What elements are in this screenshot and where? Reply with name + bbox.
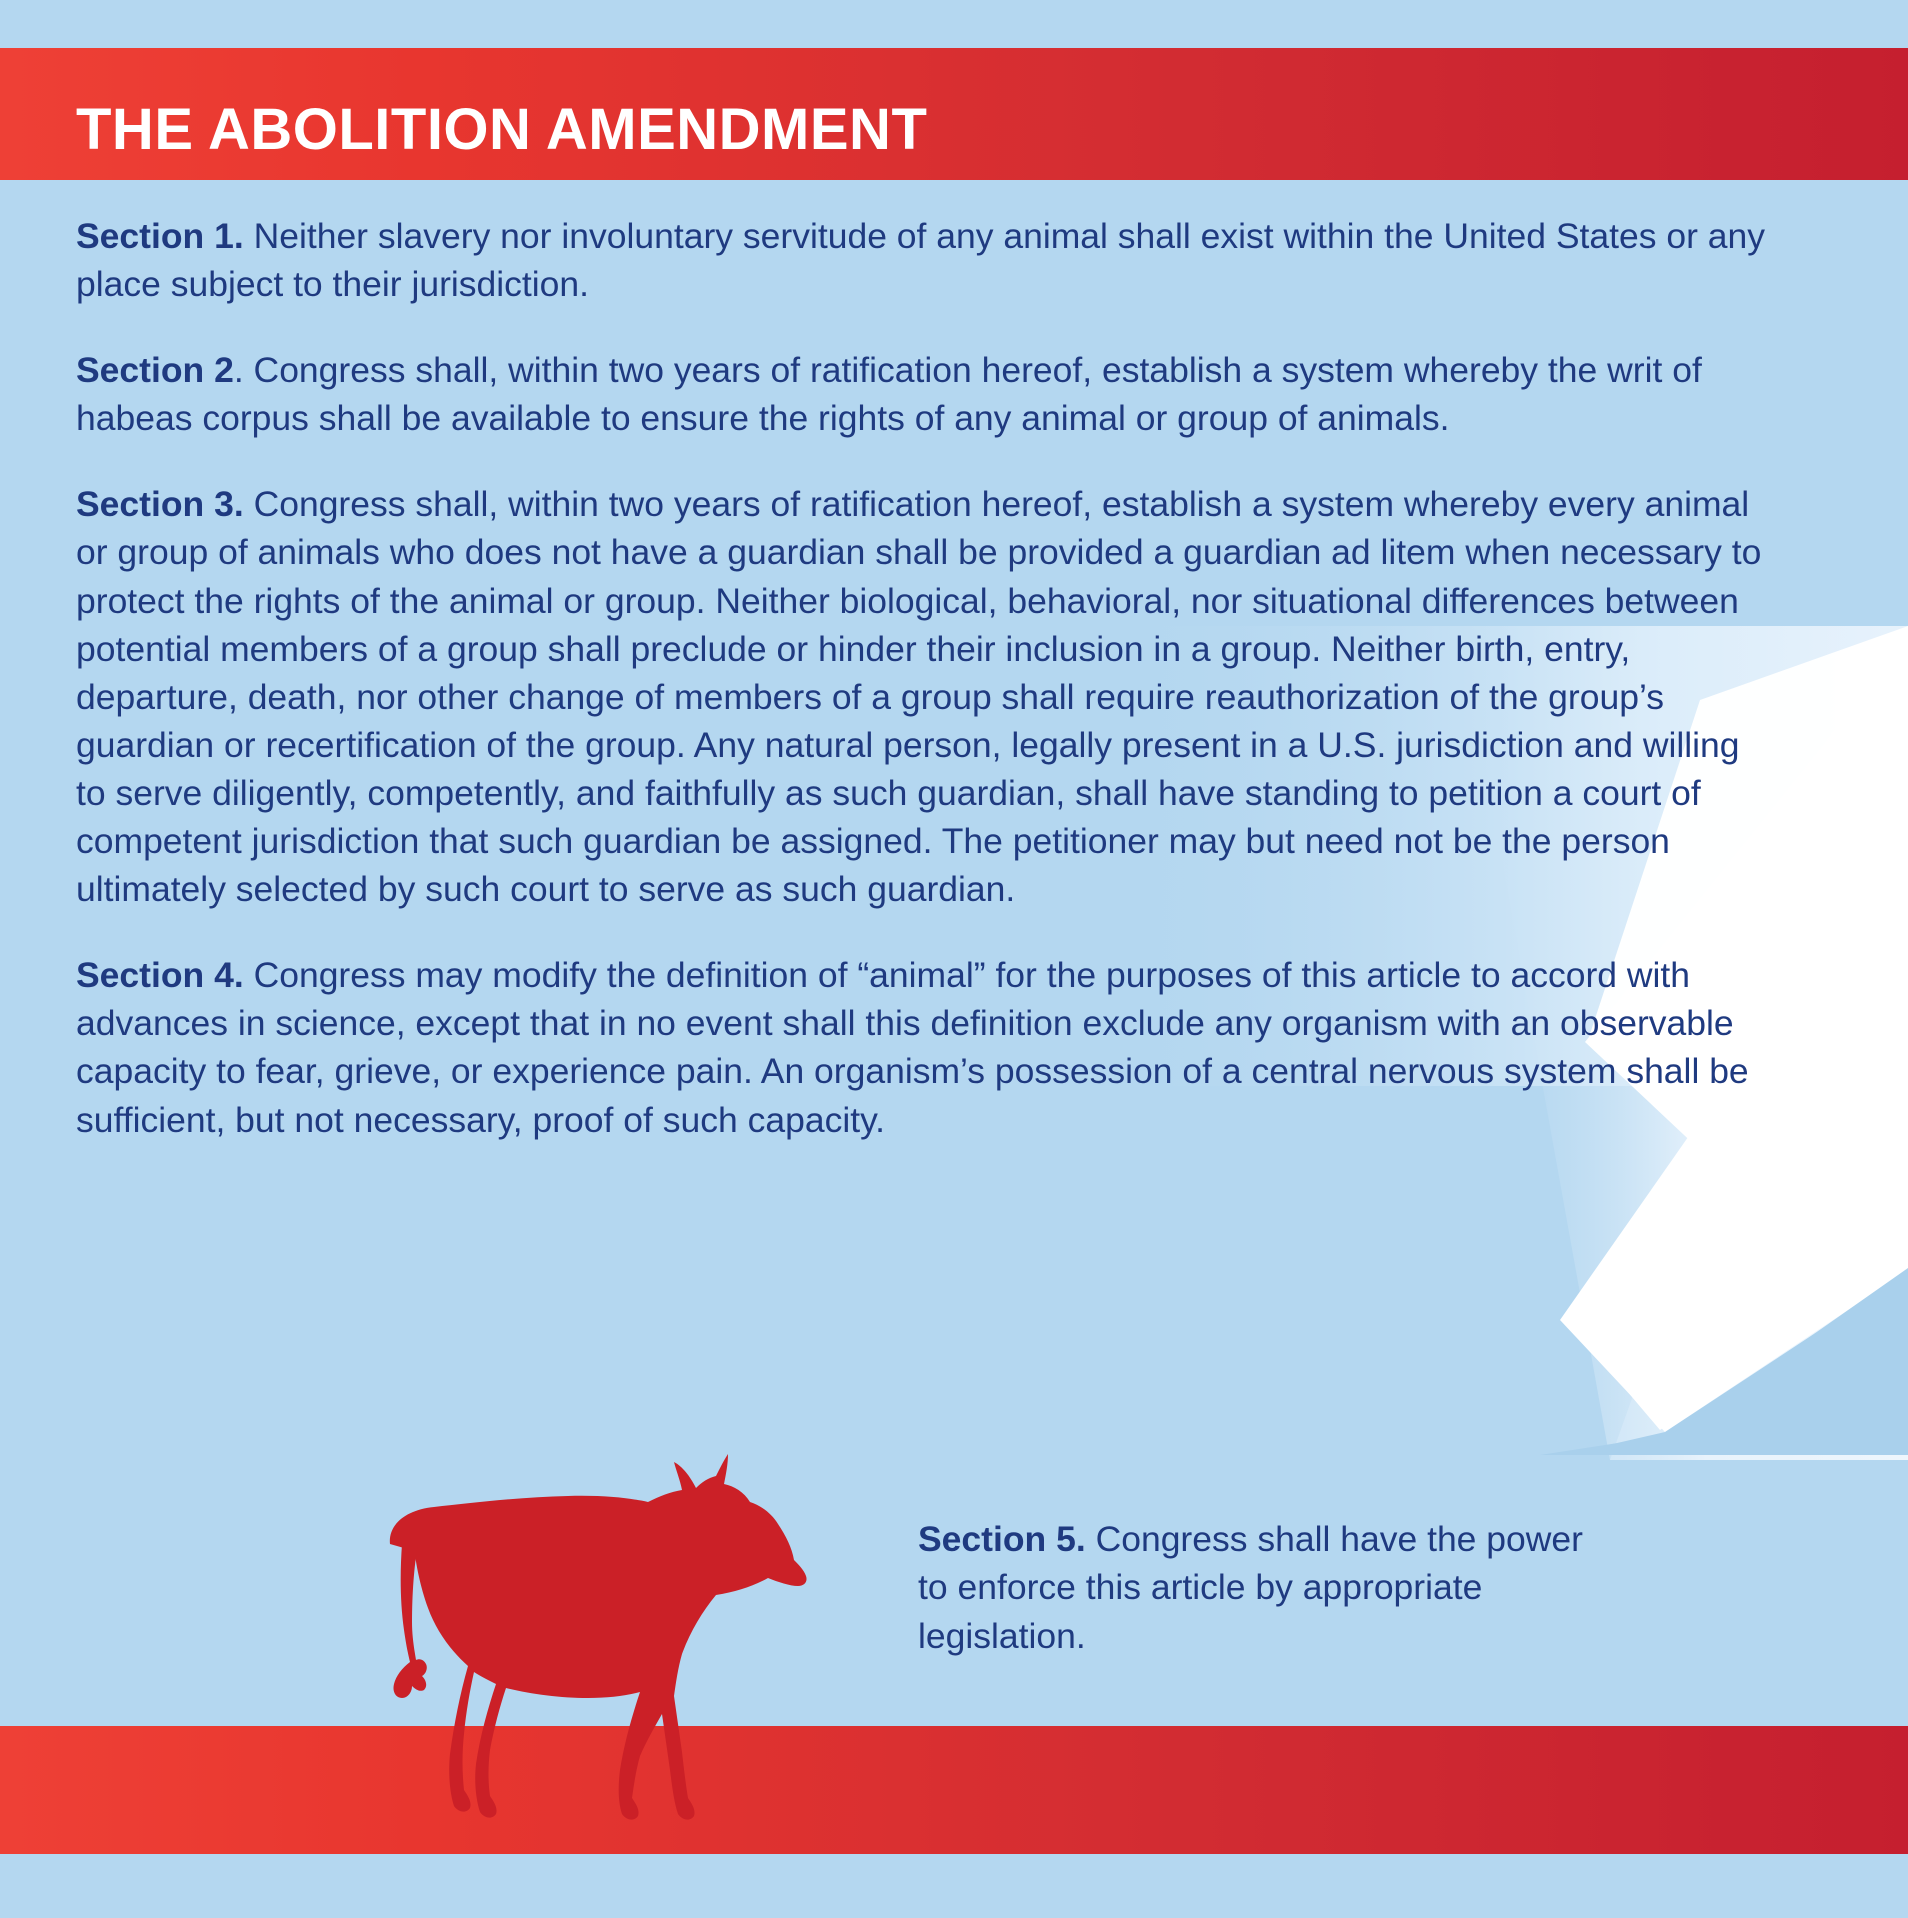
section-paragraph-1: Section 1. Neither slavery nor involunta… bbox=[76, 212, 1776, 308]
blue-wedge bbox=[1565, 1272, 1908, 1455]
section-label-3: Section 3. bbox=[76, 484, 244, 524]
section-label-2: Section 2 bbox=[76, 350, 234, 390]
section-text-4: Congress may modify the definition of “a… bbox=[76, 955, 1749, 1139]
section-text-3: Congress shall, within two years of rati… bbox=[76, 484, 1761, 909]
section-text-1: Neither slavery nor involuntary servitud… bbox=[76, 216, 1765, 304]
section-paragraph-3: Section 3. Congress shall, within two ye… bbox=[76, 480, 1776, 913]
blue-wedge-2 bbox=[1540, 1268, 1908, 1455]
section-5-block: Section 5. Congress shall have the power… bbox=[918, 1515, 1618, 1660]
page-title: THE ABOLITION AMENDMENT bbox=[76, 101, 927, 159]
amendment-body: Section 1. Neither slavery nor involunta… bbox=[76, 212, 1776, 1182]
section-text-2: . Congress shall, within two years of ra… bbox=[76, 350, 1702, 438]
section-label-4: Section 4. bbox=[76, 955, 244, 995]
section-paragraph-4: Section 4. Congress may modify the defin… bbox=[76, 951, 1776, 1143]
footer-band bbox=[0, 1726, 1908, 1854]
section-paragraph-5: Section 5. Congress shall have the power… bbox=[918, 1515, 1618, 1660]
section-label-5: Section 5. bbox=[918, 1519, 1086, 1559]
cow-silhouette-icon bbox=[330, 1452, 890, 1872]
section-paragraph-2: Section 2. Congress shall, within two ye… bbox=[76, 346, 1776, 442]
section-label-1: Section 1. bbox=[76, 216, 244, 256]
amendment-poster: THE ABOLITION AMENDMENT Section 1. Neith… bbox=[0, 0, 1908, 1918]
